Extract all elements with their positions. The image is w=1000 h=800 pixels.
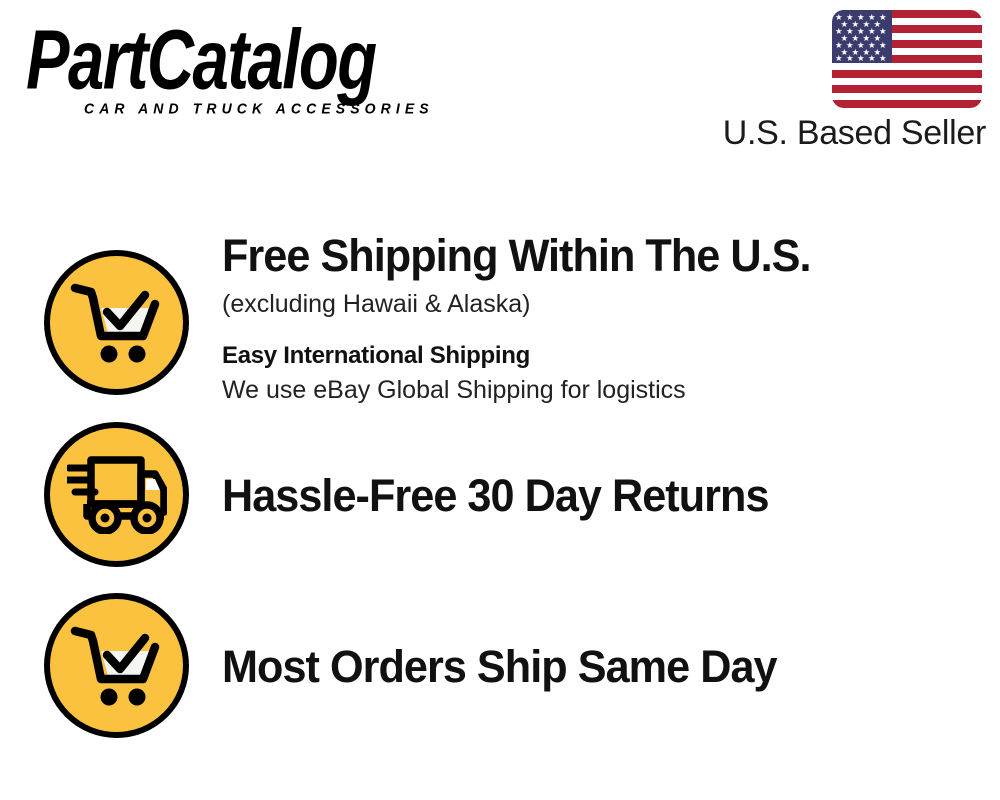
delivery-truck-icon [44, 422, 189, 567]
flag-stripe [832, 78, 982, 86]
feature-row-returns: Hassle-Free 30 Day Returns [0, 422, 1000, 594]
shopping-cart-check-icon [44, 250, 189, 395]
feature-subtitle-secondary: We use eBay Global Shipping for logistic… [222, 373, 982, 407]
feature-title: Hassle-Free 30 Day Returns [222, 470, 952, 522]
us-based-seller-badge: ★ ★ ★ ★ ★ ★ ★ ★ ★ ★ ★ ★ ★ ★ ★ ★ ★ ★ ★ ★ [710, 10, 990, 160]
us-flag-icon: ★ ★ ★ ★ ★ ★ ★ ★ ★ ★ ★ ★ ★ ★ ★ ★ ★ ★ ★ ★ [832, 10, 982, 108]
feature-subtitle: (excluding Hawaii & Alaska) [222, 287, 982, 321]
feature-row-same-day-shipping: Most Orders Ship Same Day [0, 593, 1000, 765]
feature-row-free-shipping: Free Shipping Within The U.S. (excluding… [0, 230, 1000, 402]
flag-stripe [832, 70, 982, 78]
feature-text-free-shipping: Free Shipping Within The U.S. (excluding… [222, 230, 982, 407]
feature-text-returns: Hassle-Free 30 Day Returns [222, 470, 982, 522]
feature-text-same-day-shipping: Most Orders Ship Same Day [222, 641, 982, 693]
page-header: PartCatalog CAR AND TRUCK ACCESSORIES ★ … [0, 0, 1000, 170]
shopping-cart-check-icon [44, 593, 189, 738]
flag-canton: ★ ★ ★ ★ ★ ★ ★ ★ ★ ★ ★ ★ ★ ★ ★ ★ ★ ★ ★ ★ [832, 10, 892, 63]
flag-stripe [832, 63, 982, 71]
us-based-seller-label: U.S. Based Seller [723, 114, 986, 153]
flag-stripe [832, 93, 982, 101]
feature-list: Free Shipping Within The U.S. (excluding… [0, 170, 1000, 800]
feature-title: Free Shipping Within The U.S. [222, 230, 952, 282]
feature-subtitle-bold: Easy International Shipping [222, 339, 982, 373]
flag-stripe [832, 85, 982, 93]
feature-title: Most Orders Ship Same Day [222, 641, 952, 693]
brand-tagline: CAR AND TRUCK ACCESSORIES [84, 100, 434, 117]
brand-logo: PartCatalog CAR AND TRUCK ACCESSORIES [22, 16, 492, 116]
brand-wordmark: PartCatalog [26, 16, 501, 103]
flag-stripe [832, 100, 982, 108]
